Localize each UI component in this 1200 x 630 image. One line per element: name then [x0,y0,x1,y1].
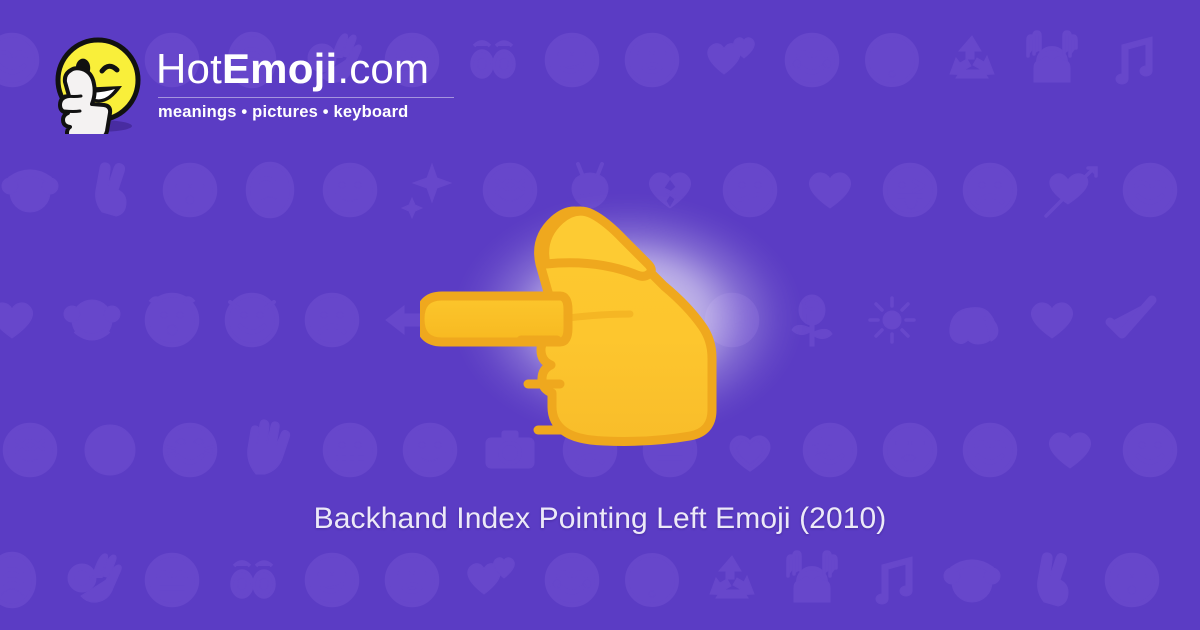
eyes-icon [220,548,284,612]
victory-hand-icon [1020,548,1084,612]
winking-smiley-thumbs-up-icon [38,26,146,134]
sleeping-face-icon [1100,548,1164,612]
logo-divider [158,97,454,98]
anguished-face-icon [0,548,44,612]
laughing-squint-icon [0,418,62,482]
see-no-evil-monkey-icon [0,158,62,222]
weary-face-icon [238,158,302,222]
recycling-icon [940,28,1004,92]
recycling-icon [700,548,764,612]
backhand-index-pointing-left-emoji [420,168,820,468]
smiling-face-icon [1118,418,1182,482]
wordmark-com: .com [337,45,429,92]
speak-no-evil-monkey-icon [60,288,124,352]
pouting-face-icon [300,288,364,352]
kissing-heart-icon [878,418,942,482]
musical-notes-icon [860,548,924,612]
blush-face-icon [540,548,604,612]
check-mark-icon [1100,288,1164,352]
waving-hand-icon [238,418,302,482]
neutral-face-icon [140,548,204,612]
smiling-devil-icon [220,288,284,352]
sleeping-face-icon [158,158,222,222]
wordmark-hot: Hot [156,45,222,92]
worried-face-icon [958,158,1022,222]
grinning-face-icon [318,158,382,222]
musical-keyboard-icon [620,548,684,612]
wordmark-emoji: Emoji [222,45,337,92]
logo-text-block: HotEmoji.com meanings • pictures • keybo… [156,26,454,122]
smirking-face-icon [540,28,604,92]
smiling-face-hearts-icon [1118,158,1182,222]
raising-hands-person-icon [1020,28,1084,92]
flexed-biceps-icon [940,288,1004,352]
zipper-mouth-icon [318,418,382,482]
blush-face-icon [780,28,844,92]
page-title: Backhand Index Pointing Left Emoji (2010… [0,502,1200,536]
relieved-face-icon [958,418,1022,482]
smirking-face-icon [300,548,364,612]
cat-heart-eyes-icon [158,418,222,482]
kissing-face-icon [380,548,444,612]
eyes-icon [460,28,524,92]
two-hearts-icon [700,28,764,92]
cupid-heart-icon [1038,158,1102,222]
musical-keyboard-icon [860,28,924,92]
logo-tagline: meanings • pictures • keyboard [156,103,454,122]
backhand-index-pointing-left-icon [420,168,820,468]
musical-notes-icon [1100,28,1164,92]
mind-blown-icon [140,288,204,352]
full-moon-face-icon [78,418,142,482]
raising-hands-person-icon [780,548,844,612]
winking-tongue-icon [878,158,942,222]
hotemoji-logo[interactable]: HotEmoji.com meanings • pictures • keybo… [38,26,454,134]
two-hearts-icon [460,548,524,612]
ok-hand-icon [60,548,124,612]
see-no-evil-monkey-icon [940,548,1004,612]
victory-hand-icon [78,158,142,222]
sun-icon [860,288,924,352]
heart-decoration-icon [1038,418,1102,482]
purple-heart-icon [0,288,44,352]
kissing-face-icon [620,28,684,92]
striped-heart-2-icon [1020,288,1084,352]
og-image-canvas: HotEmoji.com meanings • pictures • keybo… [0,0,1200,630]
wordmark: HotEmoji.com [156,48,454,90]
